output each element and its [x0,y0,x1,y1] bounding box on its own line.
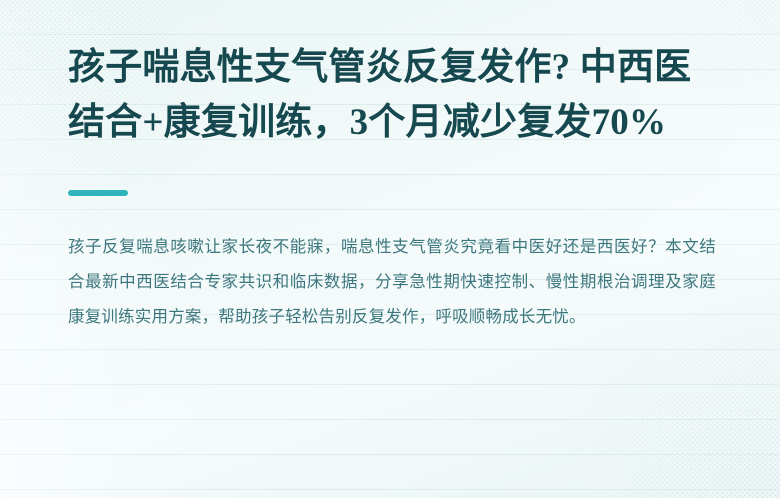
article-cover-card: 孩子喘息性支气管炎反复发作? 中西医结合+康复训练，3个月减少复发70% 孩子反… [0,0,780,498]
title-accent-divider [68,190,128,196]
page-title: 孩子喘息性支气管炎反复发作? 中西医结合+康复训练，3个月减少复发70% [68,40,718,150]
article-summary: 孩子反复喘息咳嗽让家长夜不能寐，喘息性支气管炎究竟看中医好还是西医好？本文结合最… [68,230,716,335]
cover-content: 孩子喘息性支气管炎反复发作? 中西医结合+康复训练，3个月减少复发70% 孩子反… [0,0,780,335]
